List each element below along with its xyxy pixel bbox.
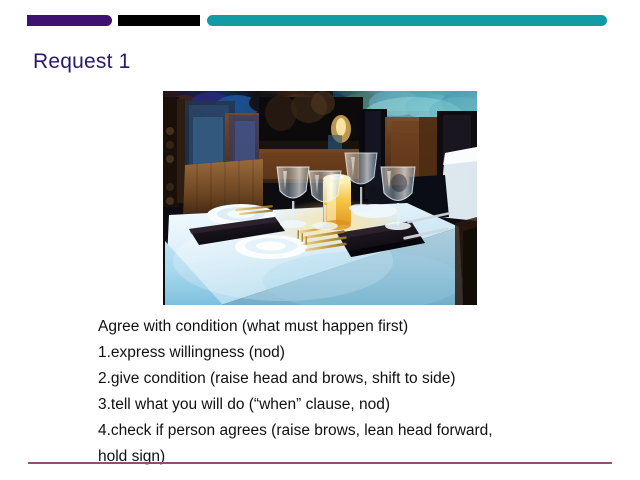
decor-bar-black	[118, 15, 200, 26]
body-item-1: 1.express willingness (nod)	[98, 340, 598, 366]
restaurant-table-photo	[163, 91, 477, 305]
decor-bar-purple	[27, 15, 112, 26]
decor-bar-teal	[207, 15, 607, 26]
body-item-2: 2.give condition (raise head and brows, …	[98, 366, 598, 392]
bottom-divider-rule	[28, 462, 612, 464]
photo-illustration	[163, 91, 477, 305]
slide-canvas: Request 1	[0, 0, 640, 480]
body-item-3: 3.tell what you will do (“when” clause, …	[98, 392, 598, 418]
slide-title: Request 1	[33, 50, 131, 74]
body-heading: Agree with condition (what must happen f…	[98, 314, 598, 340]
body-text-block: Agree with condition (what must happen f…	[98, 314, 598, 470]
